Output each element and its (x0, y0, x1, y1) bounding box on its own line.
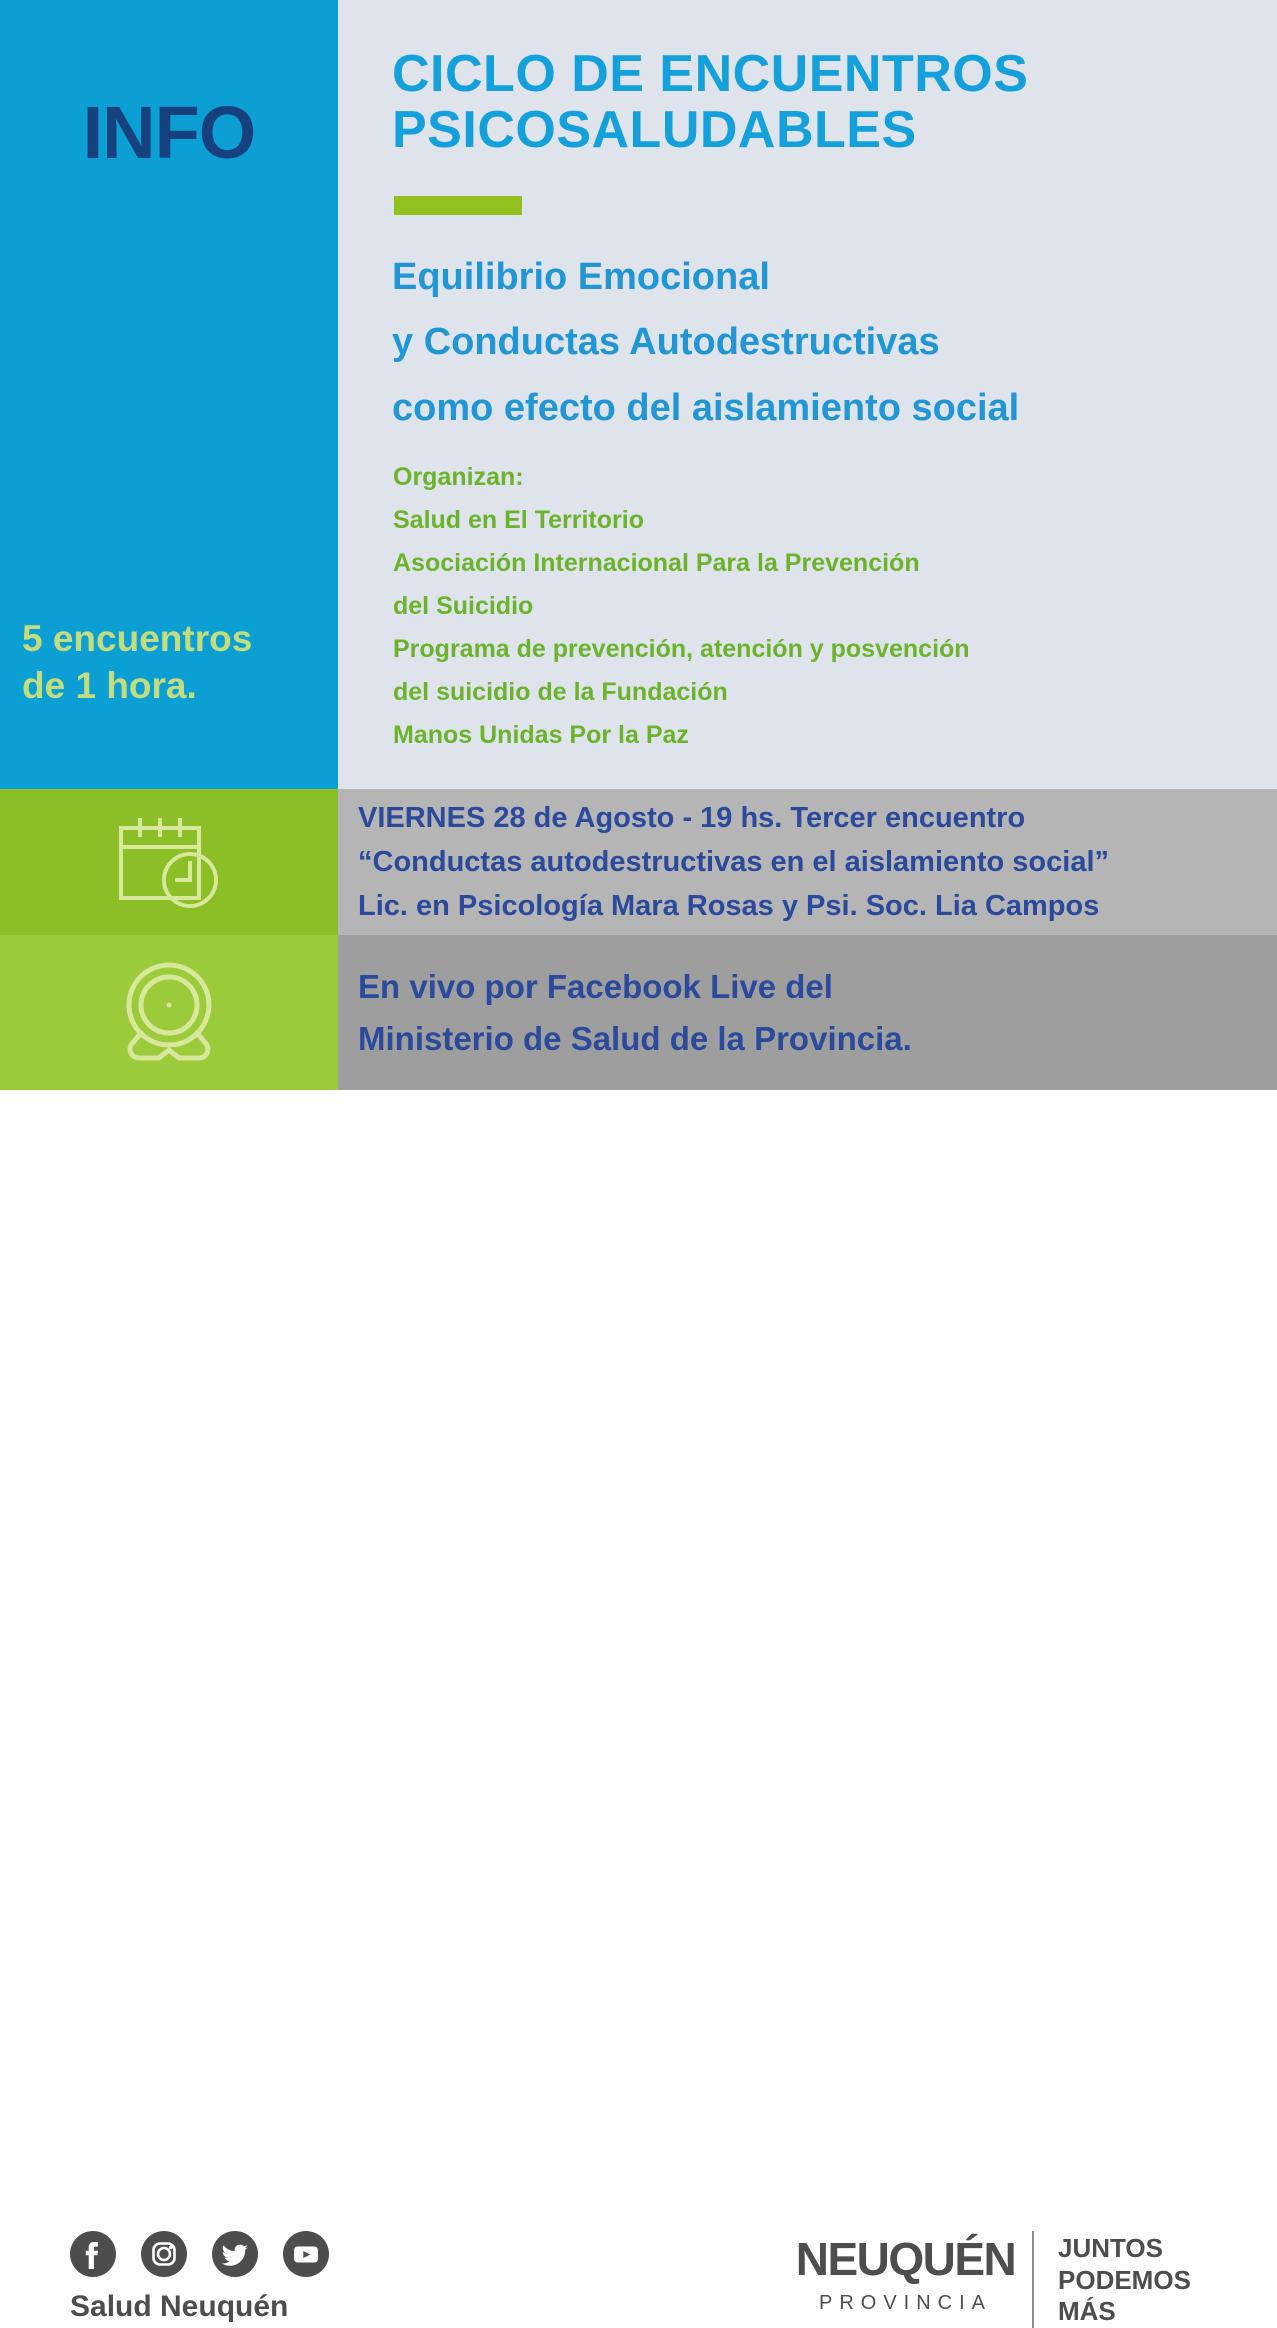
main-title: CICLO DE ENCUENTROS PSICOSALUDABLES (392, 46, 1232, 158)
organizer-line: Manos Unidas Por la Paz (393, 714, 1173, 757)
date-info-row: VIERNES 28 de Agosto - 19 hs. Tercer enc… (0, 789, 1277, 935)
poster-canvas: INFO 5 encuentros de 1 hora. CICLO DE EN… (0, 0, 1277, 1280)
date-line-2: “Conductas autodestructivas en el aislam… (358, 840, 1277, 884)
place-line-2: Ministerio de Salud de la Provincia. (358, 1013, 1277, 1064)
calendar-clock-icon (115, 815, 223, 909)
organizer-line: Salud en El Territorio (393, 499, 1173, 542)
brand-subtitle: PROVINCIA (778, 2293, 1033, 2313)
twitter-icon[interactable] (212, 2231, 258, 2277)
organizers-heading: Organizan: (393, 456, 1173, 499)
place-line-1: En vivo por Facebook Live del (358, 961, 1277, 1012)
calendar-icon-cell (0, 789, 338, 935)
footer: Salud Neuquén NEUQUÉN PROVINCIA JUNTOS P… (0, 1090, 1277, 1280)
date-line-3: Lic. en Psicología Mara Rosas y Psi. Soc… (358, 884, 1277, 928)
slogan-line-2: PODEMOS (1058, 2265, 1191, 2297)
info-heading: INFO (0, 96, 338, 170)
main-title-line-1: CICLO DE ENCUENTROS (392, 46, 1232, 102)
slogan-line-3: MÁS (1058, 2296, 1191, 2328)
organizer-line: Asociación Internacional Para la Prevenc… (393, 542, 1173, 585)
organizer-line: Programa de prevención, atención y posve… (393, 628, 1173, 671)
social-handle-label: Salud Neuquén (70, 2290, 288, 2324)
location-pin-icon (117, 957, 221, 1069)
organizers-block: Organizan: Salud en El Territorio Asocia… (393, 456, 1173, 757)
date-text-cell: VIERNES 28 de Agosto - 19 hs. Tercer enc… (338, 789, 1277, 935)
place-text-cell: En vivo por Facebook Live del Ministerio… (338, 935, 1277, 1090)
youtube-icon[interactable] (283, 2231, 329, 2277)
organizer-line: del Suicidio (393, 585, 1173, 628)
session-count-line-2: de 1 hora. (22, 662, 338, 709)
subtitle-line-2: y Conductas Autodestructivas (392, 310, 1222, 375)
instagram-icon[interactable] (141, 2231, 187, 2277)
slogan-line-1: JUNTOS (1058, 2233, 1191, 2265)
session-count-line-1: 5 encuentros (22, 615, 338, 662)
session-count-text: 5 encuentros de 1 hora. (22, 615, 338, 710)
main-title-line-2: PSICOSALUDABLES (392, 102, 1232, 158)
subtitle-line-3: como efecto del aislamiento social (392, 376, 1222, 441)
facebook-icon[interactable] (70, 2231, 116, 2277)
place-info-row: En vivo por Facebook Live del Ministerio… (0, 935, 1277, 1090)
info-side-panel: INFO 5 encuentros de 1 hora. (0, 0, 338, 789)
brand-name: NEUQUÉN (778, 2236, 1033, 2282)
pin-center-dot (167, 1002, 172, 1007)
slogan-block: JUNTOS PODEMOS MÁS (1058, 2233, 1191, 2328)
footer-divider (1032, 2231, 1034, 2328)
neuquen-logo: NEUQUÉN PROVINCIA (778, 2236, 1033, 2313)
upper-section: INFO 5 encuentros de 1 hora. CICLO DE EN… (0, 0, 1277, 789)
subtitle-line-1: Equilibrio Emocional (392, 245, 1222, 310)
social-icon-group (70, 2231, 329, 2277)
organizer-line: del suicidio de la Fundación (393, 671, 1173, 714)
date-line-1: VIERNES 28 de Agosto - 19 hs. Tercer enc… (358, 796, 1277, 840)
green-accent-bar (394, 196, 522, 215)
subtitle-block: Equilibrio Emocional y Conductas Autodes… (392, 245, 1222, 441)
location-icon-cell (0, 935, 338, 1090)
